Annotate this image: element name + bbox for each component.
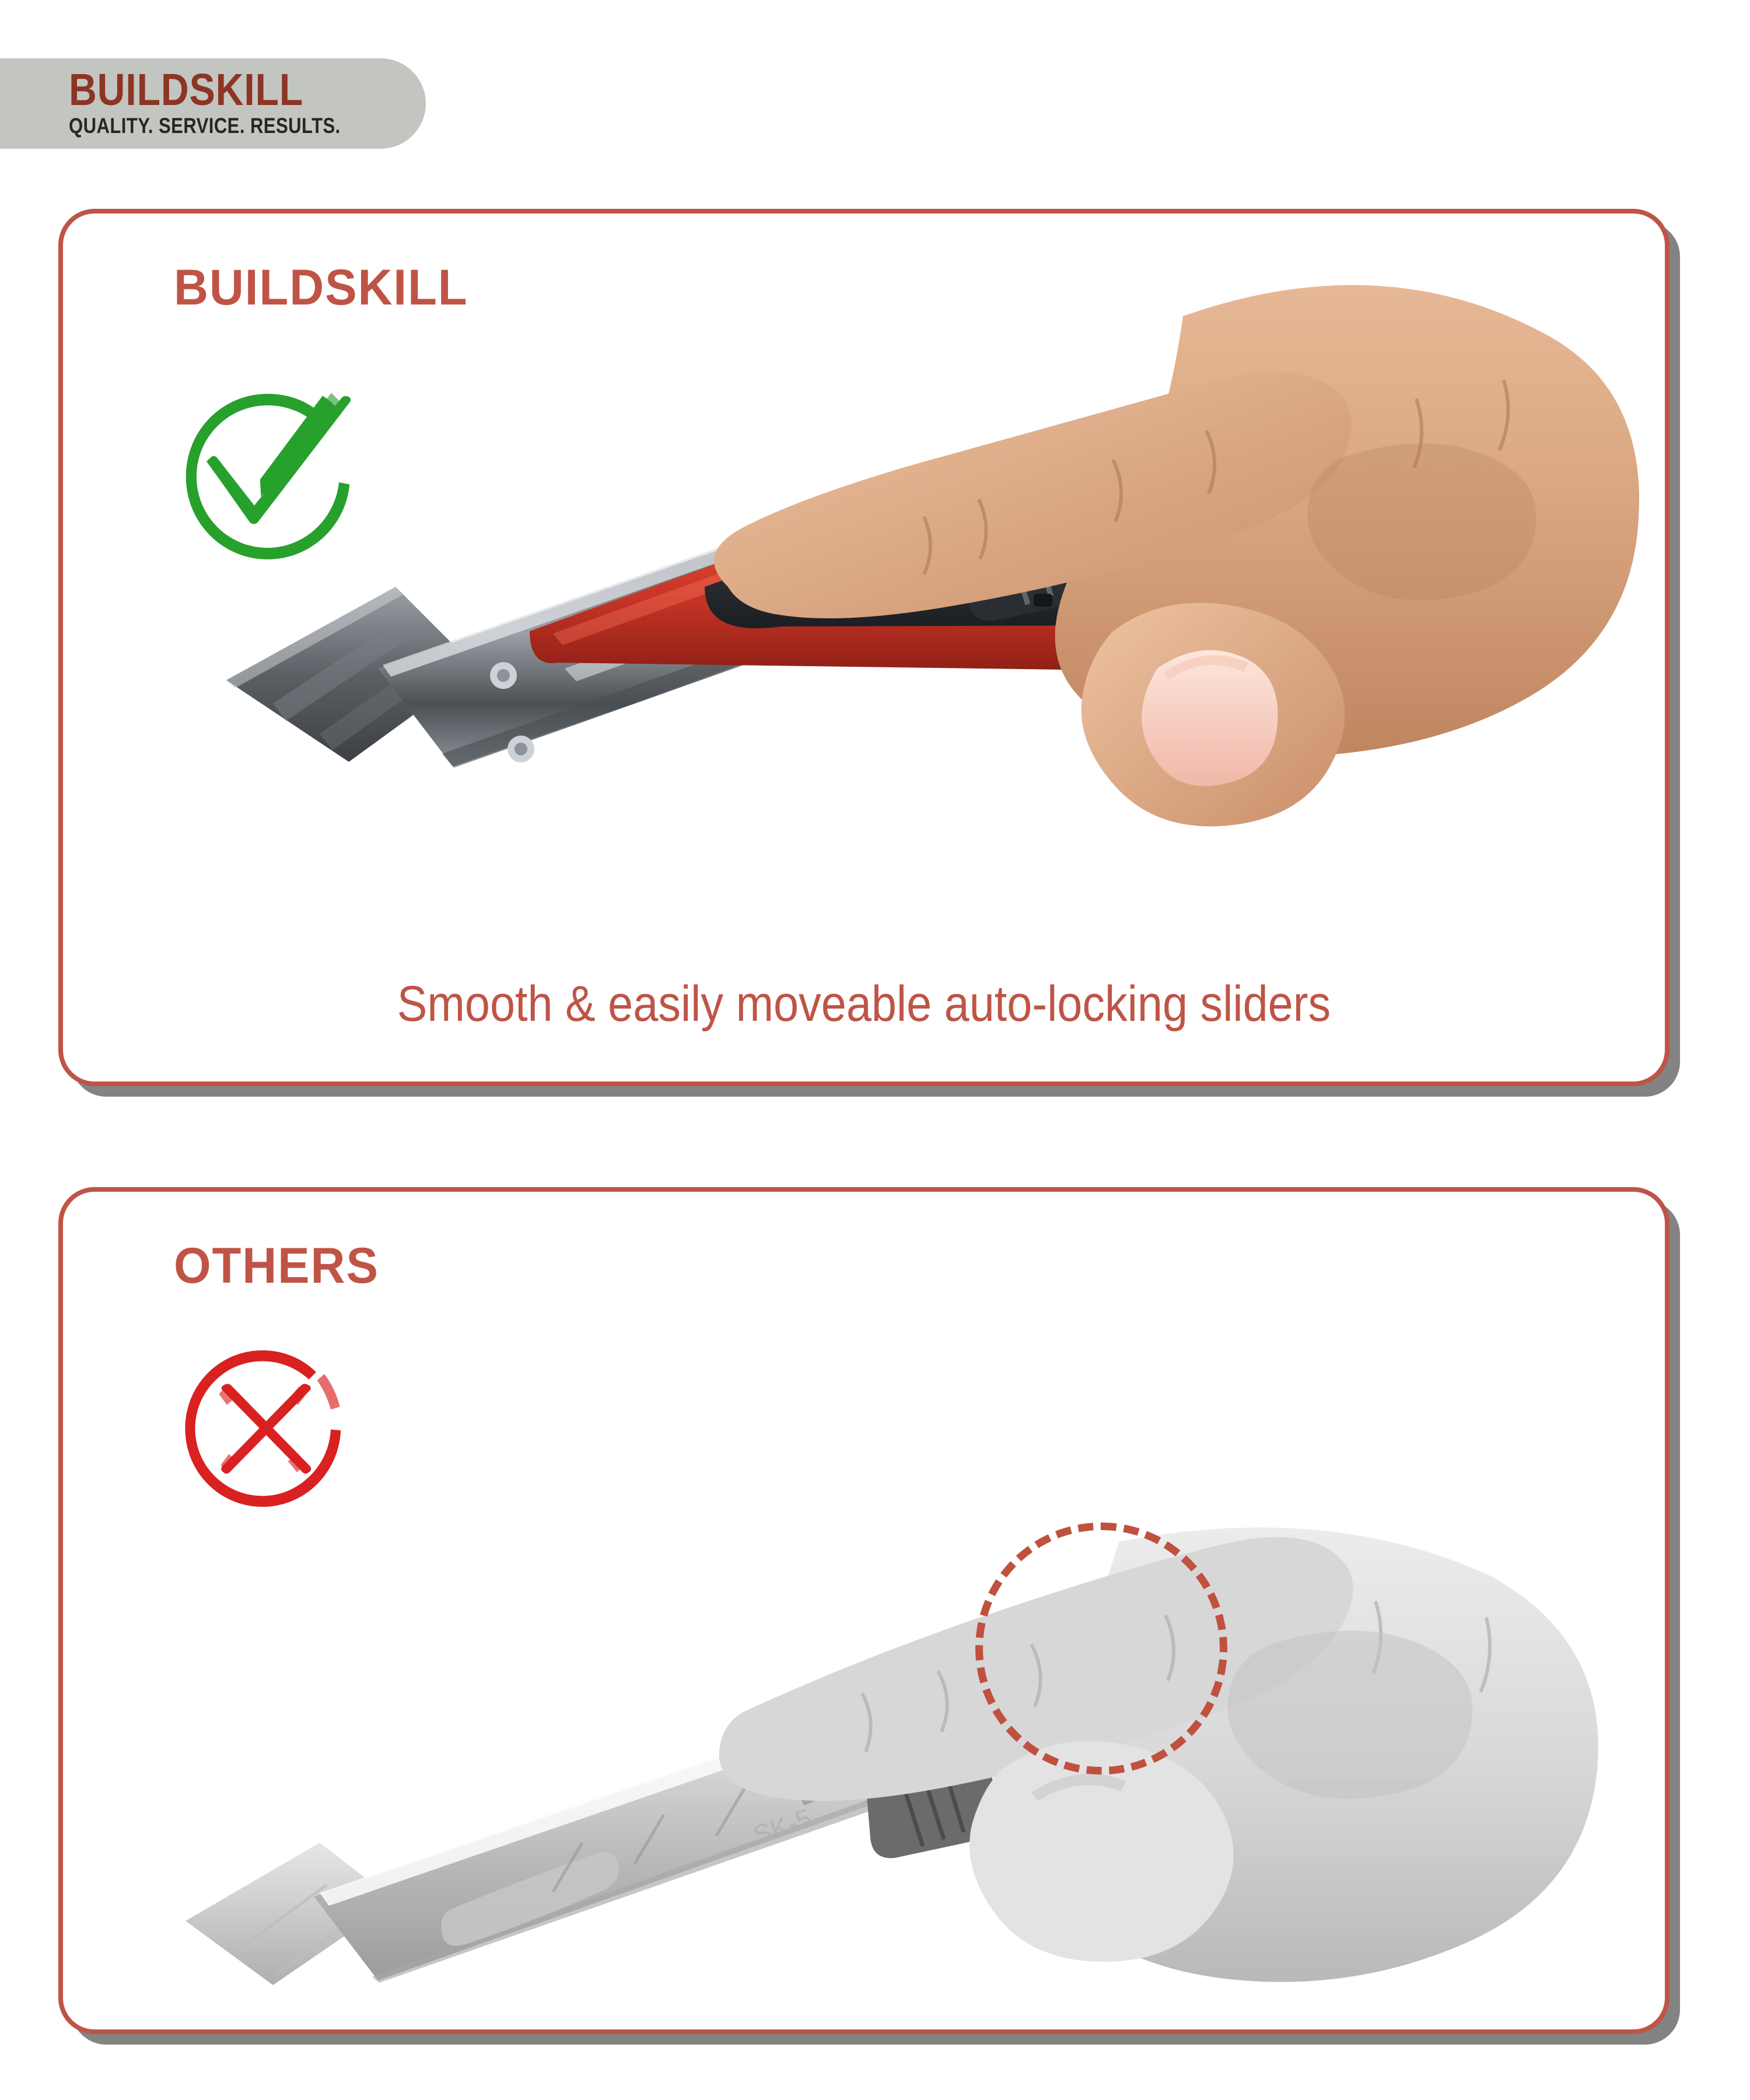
comparison-card-buildskill: BUILDSKILL: [58, 209, 1669, 1086]
x-circle-brush-icon: [171, 1338, 353, 1520]
card-heading-others: OTHERS: [174, 1237, 379, 1295]
infographic-page: BUILDSKILL QUALITY. SERVICE. RESULTS. BU…: [0, 0, 1750, 2100]
brand-name: BUILDSKILL: [69, 69, 376, 111]
product-photo-others: SK-5: [174, 1518, 1655, 2014]
product-photo-buildskill: [203, 260, 1644, 966]
brand-tagline: QUALITY. SERVICE. RESULTS.: [69, 115, 369, 138]
dashed-circle-highlight: [975, 1522, 1227, 1774]
brand-badge: BUILDSKILL QUALITY. SERVICE. RESULTS.: [0, 58, 426, 149]
caption-buildskill: Smooth & easily moveable auto-locking sl…: [143, 979, 1584, 1029]
comparison-card-others: OTHERS: [58, 1187, 1669, 2034]
hand: [714, 285, 1639, 827]
